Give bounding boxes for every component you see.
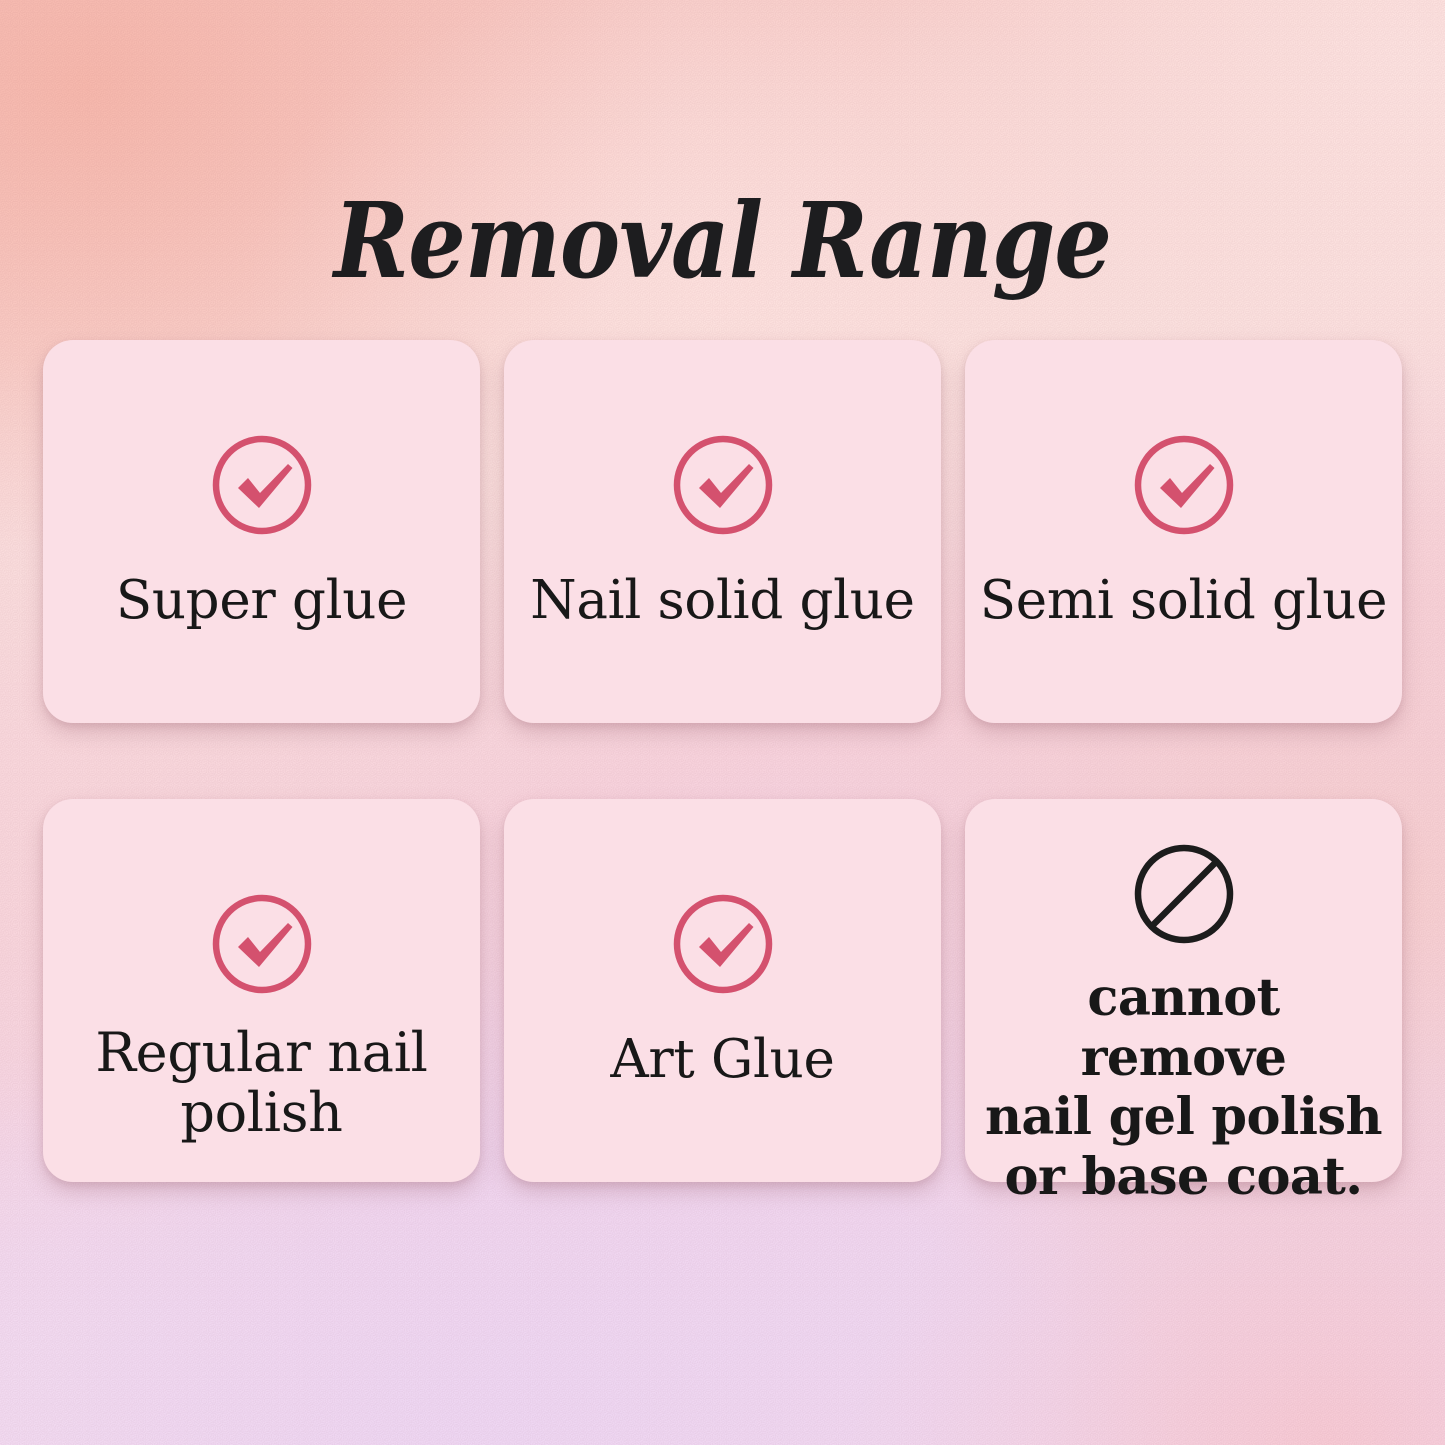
check-circle-icon [209,891,315,997]
card-label: Semi solid glue [978,572,1389,629]
page-title: Removal Range [94,188,1351,294]
removal-range-card-grid: Super glue Nail solid glue Semi solid gl… [43,340,1402,1182]
removal-range-infographic: Removal Range Super glue Nail solid glue [0,0,1445,1445]
card-art-glue[interactable]: Art Glue [504,799,941,1182]
card-cannot-remove[interactable]: cannot remove nail gel polish or base co… [965,799,1402,1182]
check-circle-icon [670,432,776,538]
card-label: Art Glue [517,1031,928,1088]
check-circle-icon [670,891,776,997]
check-circle-icon [209,432,315,538]
card-semi-solid-glue[interactable]: Semi solid glue [965,340,1402,723]
card-super-glue[interactable]: Super glue [43,340,480,723]
card-regular-nail-polish[interactable]: Regular nail polish [43,799,480,1182]
card-label: Regular nail polish [56,1023,467,1144]
prohibited-icon [1131,841,1237,947]
check-circle-icon [1131,432,1237,538]
card-nail-solid-glue[interactable]: Nail solid glue [504,340,941,723]
card-label: Super glue [56,572,467,629]
card-label: Nail solid glue [517,572,928,629]
card-label: cannot remove nail gel polish or base co… [978,969,1389,1208]
